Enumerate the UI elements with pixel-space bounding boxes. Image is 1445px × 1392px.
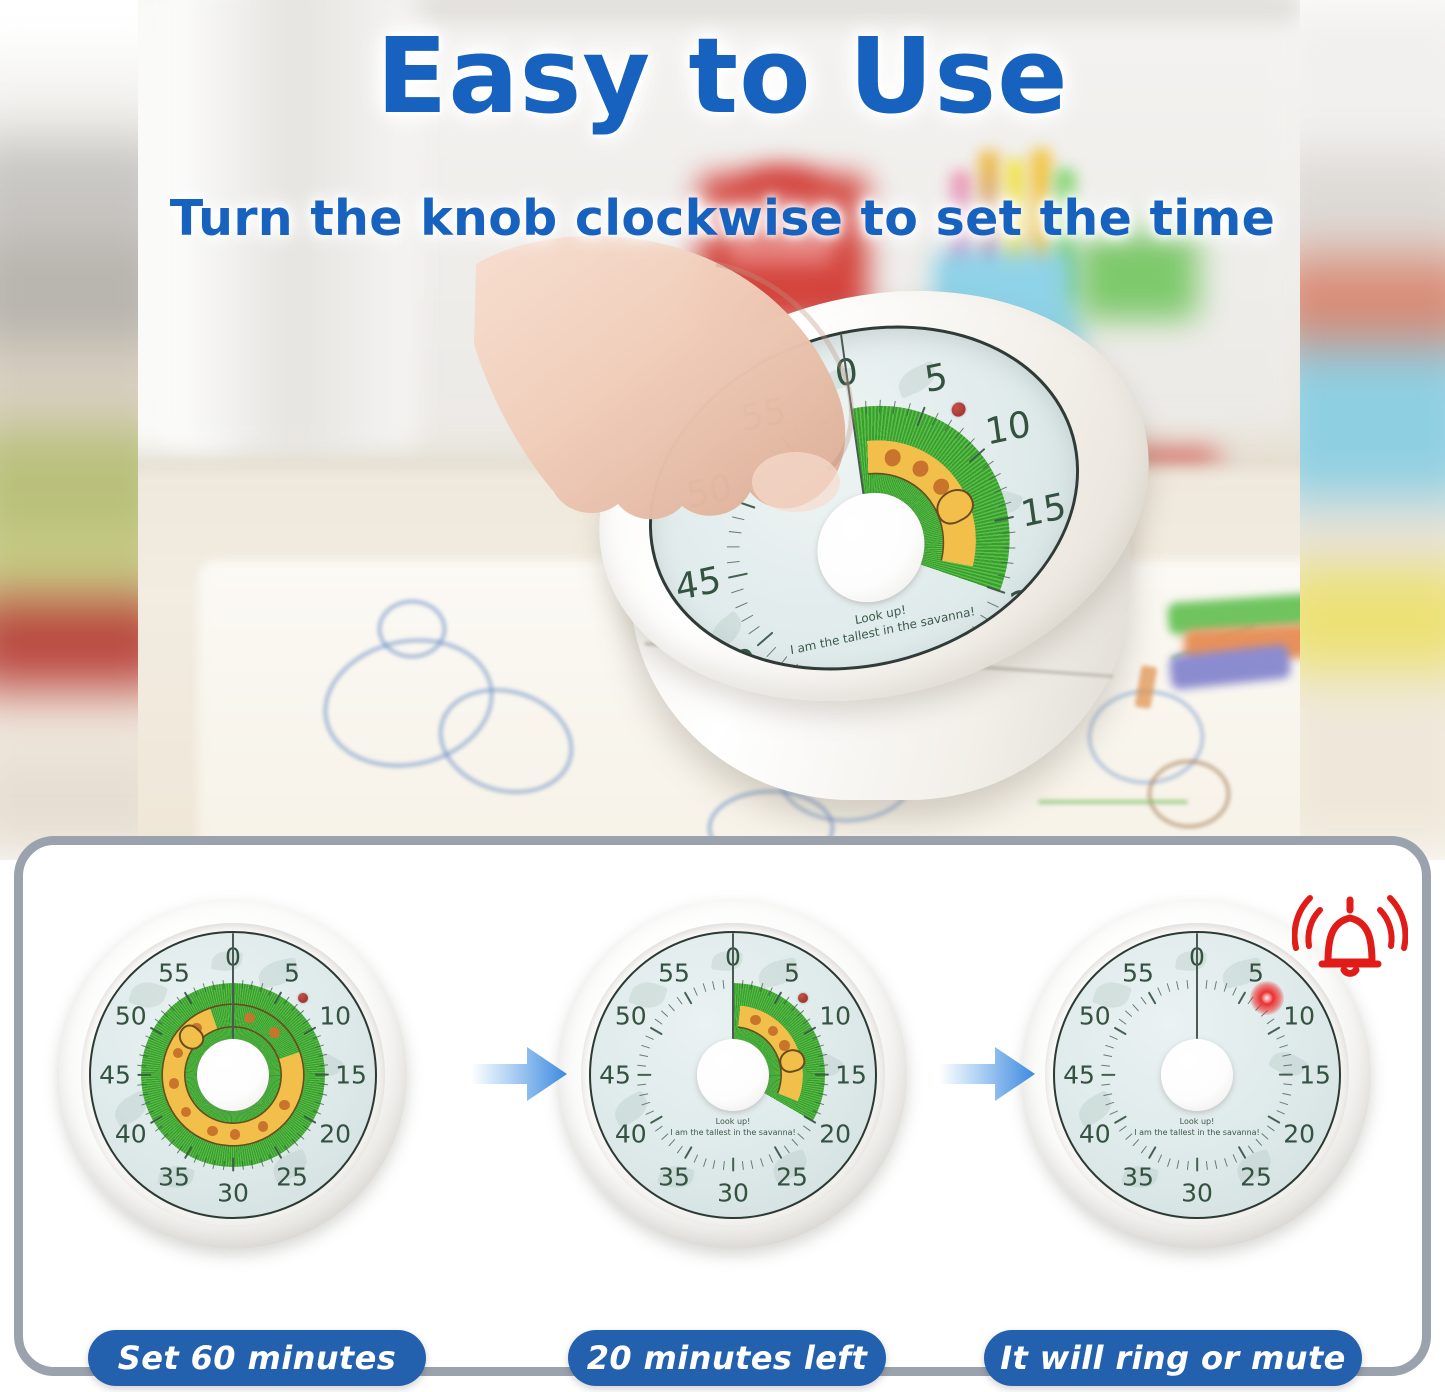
child-drawing-stroke (378, 600, 446, 658)
minute-tick (1237, 991, 1246, 1004)
dial-pointer-line (232, 933, 234, 1039)
giraffe-spot (207, 1126, 218, 1137)
dial-pointer-line (1196, 933, 1198, 1039)
dial-number: 55 (158, 958, 190, 987)
steps-card: 0510152025303540455055 05101520253035404… (14, 836, 1431, 1376)
dial-number: 30 (1181, 1179, 1213, 1208)
dial-message: Look up!I am the tallest in the savanna! (591, 1117, 875, 1139)
page-subtitle: Turn the knob clockwise to set the time (0, 190, 1445, 247)
dial-number: 35 (658, 1163, 690, 1192)
minute-tick (1132, 1003, 1139, 1011)
minute-tick (1280, 1101, 1289, 1105)
minute-tick (1132, 1139, 1139, 1147)
minute-tick (1109, 1035, 1118, 1040)
minute-tick (1109, 1110, 1118, 1115)
dial-number: 10 (319, 1002, 351, 1031)
hero-photo: 0510152025303540455055Look up!I am the t… (0, 0, 1445, 860)
dial-message-line2: I am the tallest in the savanna! (670, 1128, 796, 1137)
giraffe-spot (244, 1013, 254, 1023)
dial-number: 35 (1122, 1163, 1154, 1192)
minute-tick (1157, 987, 1162, 996)
timer-knob[interactable] (697, 1039, 769, 1111)
timer-knob[interactable] (197, 1039, 269, 1111)
giraffe-spot (258, 1121, 268, 1131)
minute-tick (637, 1064, 646, 1066)
dial-number: 45 (1063, 1061, 1095, 1090)
dial-number: 15 (1299, 1061, 1331, 1090)
timer-knob[interactable] (1161, 1039, 1233, 1111)
minute-tick (722, 1161, 724, 1170)
dial-number: 15 (335, 1061, 367, 1090)
right-arrow-icon (939, 1045, 1035, 1103)
minute-tick (1276, 1035, 1285, 1040)
minute-tick (1248, 1145, 1254, 1153)
child-hand (466, 224, 1026, 694)
caption-step-set: Set 60 minutes (88, 1330, 426, 1386)
dial-number: 40 (115, 1120, 147, 1149)
minute-tick (1140, 997, 1146, 1005)
dial-number: 20 (319, 1120, 351, 1149)
dial-pointer-line (732, 933, 734, 1039)
ringing-bell-icon (1292, 884, 1408, 984)
caption-step-running: 20 minutes left (568, 1330, 886, 1386)
status-led (298, 993, 308, 1003)
minute-tick (1125, 1010, 1133, 1017)
minute-tick (1205, 979, 1207, 988)
dial-number: 10 (819, 1002, 851, 1031)
timer-face: 0510152025303540455055 (89, 931, 377, 1219)
minute-tick (1276, 1110, 1285, 1115)
minute-tick (1267, 1018, 1275, 1024)
minute-tick (1148, 1146, 1157, 1159)
dial-number: 50 (1079, 1002, 1111, 1031)
minute-tick (1232, 987, 1237, 996)
hero-visual-timer: 0510152025303540455055Look up!I am the t… (586, 290, 1176, 810)
dial-number: 25 (276, 1163, 308, 1192)
dial-message: Look up!I am the tallest in the savanna! (1055, 1117, 1339, 1139)
minute-tick (1282, 1092, 1291, 1095)
dial-number: 25 (776, 1163, 808, 1192)
minute-tick (1101, 1074, 1115, 1076)
dial-number: 50 (615, 1002, 647, 1031)
minute-tick (1223, 1158, 1227, 1167)
minute-tick (1196, 1158, 1198, 1172)
minute-tick (137, 1064, 146, 1066)
minute-tick (1140, 1145, 1146, 1153)
minute-tick (1237, 1146, 1246, 1159)
status-led (798, 993, 808, 1003)
dial-message-line1: Look up! (716, 1117, 751, 1126)
giraffe-spot (279, 1100, 289, 1110)
right-arrow-icon (471, 1045, 567, 1103)
timer-clock-1[interactable]: 0510152025303540455055 (59, 901, 407, 1249)
minute-tick (1283, 1083, 1292, 1085)
minute-tick (1176, 1160, 1179, 1169)
minute-tick (1186, 979, 1188, 988)
minute-tick (1157, 1154, 1162, 1163)
step-panel-set: 0510152025303540455055 (59, 901, 429, 1273)
minute-tick (732, 1158, 734, 1172)
dial-number: 45 (599, 1061, 631, 1090)
dial-number: 10 (1283, 1002, 1315, 1031)
minute-tick (222, 1161, 224, 1170)
minute-tick (1105, 1045, 1114, 1049)
giraffe-spot (768, 1026, 778, 1036)
minute-tick (1167, 983, 1171, 992)
dial-message-line2: I am the tallest in the savanna! (1134, 1128, 1260, 1137)
minute-tick (1232, 1154, 1237, 1163)
minute-tick (1214, 1160, 1217, 1169)
dial-number: 5 (284, 958, 300, 987)
minute-tick (1167, 1158, 1171, 1167)
dial-number: 50 (115, 1002, 147, 1031)
giraffe-spot (173, 1048, 183, 1058)
minute-tick (137, 1074, 151, 1076)
minute-tick (637, 1074, 651, 1076)
minute-tick (1214, 981, 1217, 990)
giraffe-spot (230, 1129, 241, 1140)
status-led (1250, 981, 1284, 1015)
minute-tick (232, 1158, 234, 1172)
dial-message-line1: Look up! (1180, 1117, 1215, 1126)
minute-tick (1113, 1026, 1126, 1035)
giraffe-spot (181, 1107, 191, 1117)
giraffe-spot (169, 1078, 180, 1089)
minute-tick (1176, 981, 1179, 990)
timer-face: 0510152025303540455055Look up!I am the t… (589, 931, 877, 1219)
page-title: Easy to Use (0, 22, 1445, 131)
giraffe-spot (269, 1027, 280, 1038)
timer-clock-2[interactable]: 0510152025303540455055Look up!I am the t… (559, 901, 907, 1249)
dial-number: 30 (717, 1179, 749, 1208)
minute-tick (1186, 1161, 1188, 1170)
dial-number: 30 (217, 1179, 249, 1208)
dial-number: 15 (835, 1061, 867, 1090)
minute-tick (1101, 1083, 1110, 1085)
minute-tick (1103, 1054, 1112, 1057)
step-panel-running: 0510152025303540455055Look up!I am the t… (559, 901, 929, 1273)
dial-number: 25 (1240, 1163, 1272, 1192)
minute-tick (1255, 1139, 1262, 1147)
caption-step-done: It will ring or mute (984, 1330, 1362, 1386)
dial-number: 35 (158, 1163, 190, 1192)
dial-number: 45 (99, 1061, 131, 1090)
dial-number: 55 (658, 958, 690, 987)
minute-tick (1268, 1026, 1281, 1035)
minute-tick (1119, 1018, 1127, 1024)
minute-tick (1101, 1064, 1110, 1066)
minute-tick (1280, 1045, 1289, 1049)
dial-number: 5 (784, 958, 800, 987)
dial-number: 55 (1122, 958, 1154, 987)
minute-tick (1148, 991, 1157, 1004)
giraffe-spot (750, 1015, 761, 1026)
minute-tick (1205, 1161, 1207, 1170)
